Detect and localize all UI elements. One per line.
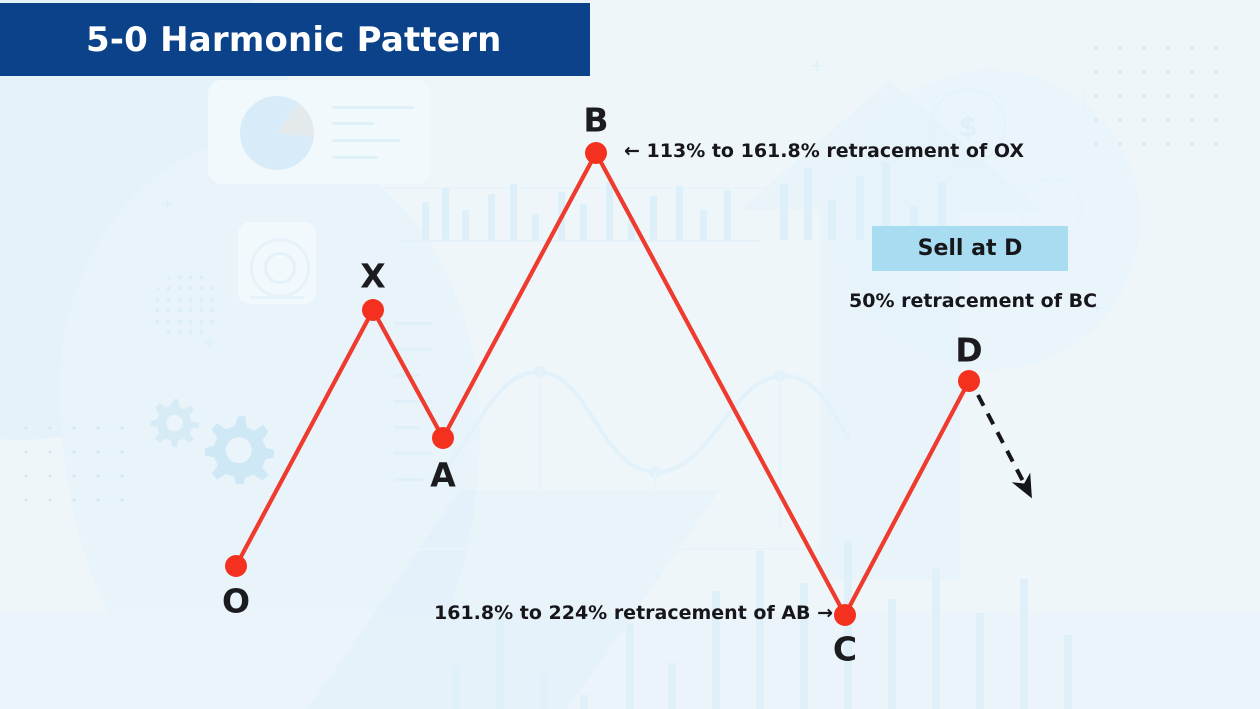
point-label-o: O	[222, 585, 250, 618]
pattern-point-b	[585, 142, 607, 164]
pattern-point-d	[958, 370, 980, 392]
infographic-canvas: + + + + $ 5-0 Harmonic Pattern	[0, 0, 1260, 709]
pattern-point-a	[432, 427, 454, 449]
projection-arrow	[978, 395, 1026, 487]
sell-at-d-label: Sell at D	[918, 238, 1023, 260]
point-label-a: A	[430, 459, 456, 492]
pattern-point-group	[225, 142, 980, 626]
sell-at-d-callout: Sell at D	[872, 226, 1068, 271]
annotation-retracement-ab: 161.8% to 224% retracement of AB →	[434, 604, 833, 623]
pattern-point-x	[362, 299, 384, 321]
point-label-b: B	[583, 104, 608, 137]
point-label-c: C	[833, 633, 857, 666]
point-label-x: X	[360, 260, 385, 293]
pattern-polyline	[236, 153, 969, 615]
annotation-retracement-ox: ← 113% to 161.8% retracement of OX	[624, 142, 1024, 161]
annotation-retracement-bc: 50% retracement of BC	[849, 292, 1097, 311]
point-label-d: D	[955, 334, 982, 367]
pattern-point-c	[834, 604, 856, 626]
pattern-point-o	[225, 555, 247, 577]
